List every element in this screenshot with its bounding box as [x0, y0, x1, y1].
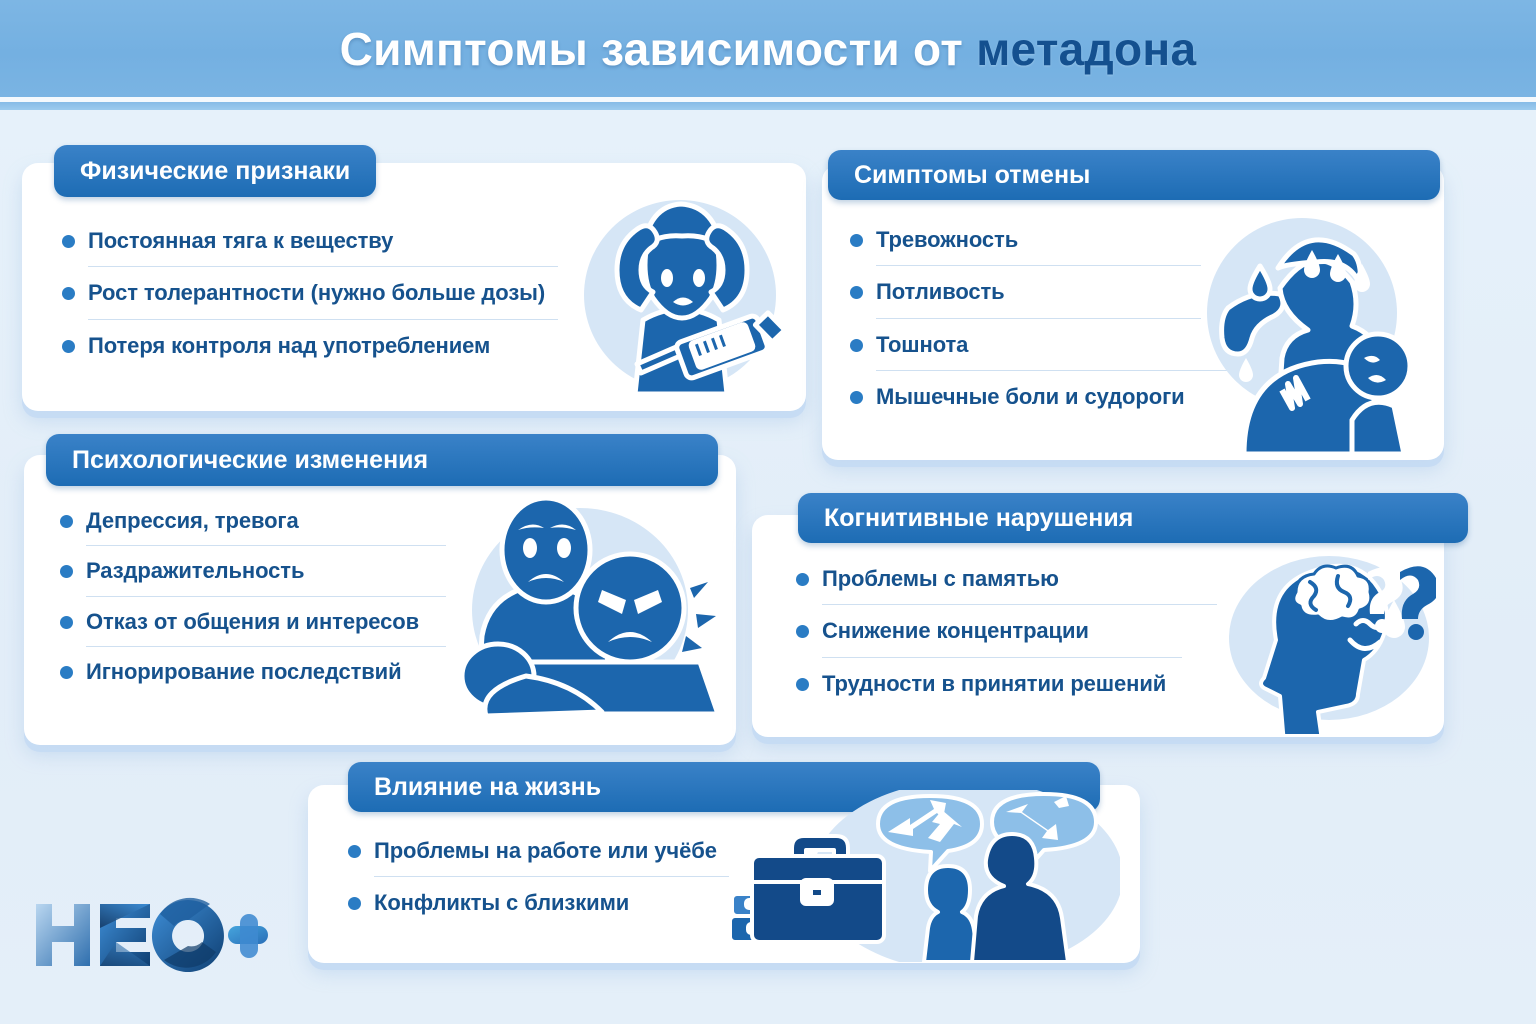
person-headache-syringe-icon: [575, 192, 790, 397]
list-divider: [822, 657, 1182, 658]
list-item-label: Отказ от общения и интересов: [86, 609, 419, 634]
page-title-main: Симптомы зависимости от: [340, 23, 977, 75]
list-item: Мышечные боли и судороги: [850, 384, 1250, 409]
bullet-dot-icon: [348, 897, 361, 910]
list-divider: [876, 370, 1231, 371]
page-header: Симптомы зависимости от метадона: [0, 0, 1536, 97]
sad-angry-person-icon: [440, 490, 730, 720]
bullet-dot-icon: [796, 573, 809, 586]
bullet-dot-icon: [796, 625, 809, 638]
bullet-dot-icon: [60, 565, 73, 578]
list-item: Тревожность: [850, 227, 1250, 252]
card-title-cognitive-impairment: Когнитивные нарушения: [798, 493, 1468, 543]
list-item-label: Потливость: [876, 279, 1005, 304]
card-title-label: Физические признаки: [80, 157, 350, 186]
bullet-dot-icon: [62, 340, 75, 353]
list-divider: [86, 596, 446, 597]
list-item: Конфликты с близкими: [348, 890, 768, 915]
bullet-dot-icon: [850, 339, 863, 352]
brand-logo: [30, 890, 270, 980]
bullet-list-psychological-changes: Депрессия, тревога Раздражительность Отк…: [60, 508, 480, 684]
list-item: Трудности в принятии решений: [796, 671, 1226, 696]
page-title-accent: метадона: [976, 23, 1196, 75]
list-item-label: Проблемы с памятью: [822, 566, 1059, 591]
bullet-list-cognitive-impairment: Проблемы с памятью Снижение концентрации…: [796, 566, 1226, 696]
bullet-dot-icon: [62, 235, 75, 248]
list-item: Депрессия, тревога: [60, 508, 480, 533]
list-item-label: Снижение концентрации: [822, 618, 1089, 643]
bullet-dot-icon: [60, 666, 73, 679]
list-item-label: Тошнота: [876, 332, 968, 357]
bullet-list-physical-signs: Постоянная тяга к веществу Рост толерант…: [62, 228, 562, 358]
card-title-withdrawal-symptoms: Симптомы отмены: [828, 150, 1440, 200]
list-item: Постоянная тяга к веществу: [62, 228, 562, 253]
list-divider: [876, 318, 1201, 319]
list-divider: [86, 646, 446, 647]
list-item: Раздражительность: [60, 558, 480, 583]
list-item-label: Депрессия, тревога: [86, 508, 299, 533]
list-item: Отказ от общения и интересов: [60, 609, 480, 634]
card-title-label: Влияние на жизнь: [374, 773, 601, 802]
list-item: Снижение концентрации: [796, 618, 1226, 643]
card-title-physical-signs: Физические признаки: [54, 145, 376, 197]
list-divider: [876, 265, 1201, 266]
bullet-dot-icon: [850, 234, 863, 247]
list-item: Тошнота: [850, 332, 1250, 357]
list-item-label: Игнорирование последствий: [86, 659, 402, 684]
list-item-label: Проблемы на работе или учёбе: [374, 838, 717, 863]
list-item-label: Тревожность: [876, 227, 1018, 252]
list-item-label: Постоянная тяга к веществу: [88, 228, 393, 253]
bullet-dot-icon: [850, 286, 863, 299]
list-item-label: Трудности в принятии решений: [822, 671, 1166, 696]
list-item-label: Потеря контроля над употреблением: [88, 333, 490, 358]
list-item-label: Рост толерантности (нужно больше дозы): [88, 280, 545, 305]
card-title-psychological-changes: Психологические изменения: [46, 434, 718, 486]
list-item: Проблемы с памятью: [796, 566, 1226, 591]
list-item: Проблемы на работе или учёбе: [348, 838, 768, 863]
card-title-label: Симптомы отмены: [854, 161, 1090, 190]
list-item-label: Конфликты с близкими: [374, 890, 629, 915]
bullet-dot-icon: [348, 845, 361, 858]
list-divider: [374, 876, 729, 877]
card-title-label: Психологические изменения: [72, 446, 428, 475]
list-divider: [88, 266, 558, 267]
list-item: Потливость: [850, 279, 1250, 304]
card-title-label: Когнитивные нарушения: [824, 504, 1133, 533]
bullet-list-withdrawal-symptoms: Тревожность Потливость Тошнота Мышечные …: [850, 227, 1250, 409]
briefcase-books-conflict-icon: [730, 790, 1120, 962]
bullet-dot-icon: [60, 515, 73, 528]
bullet-list-life-impact: Проблемы на работе или учёбе Конфликты с…: [348, 838, 768, 916]
list-item-label: Раздражительность: [86, 558, 304, 583]
header-blue-band: [0, 102, 1536, 110]
list-divider: [86, 545, 446, 546]
bullet-dot-icon: [796, 678, 809, 691]
list-divider: [88, 319, 558, 320]
page-title: Симптомы зависимости от метадона: [340, 22, 1197, 76]
head-brain-question-icon: [1222, 548, 1436, 734]
person-sweating-cramps-icon: [1192, 208, 1442, 458]
bullet-dot-icon: [60, 616, 73, 629]
list-item: Игнорирование последствий: [60, 659, 480, 684]
bullet-dot-icon: [850, 391, 863, 404]
bullet-dot-icon: [62, 287, 75, 300]
list-item: Рост толерантности (нужно больше дозы): [62, 280, 562, 305]
list-item: Потеря контроля над употреблением: [62, 333, 562, 358]
list-divider: [822, 604, 1217, 605]
list-item-label: Мышечные боли и судороги: [876, 384, 1185, 409]
